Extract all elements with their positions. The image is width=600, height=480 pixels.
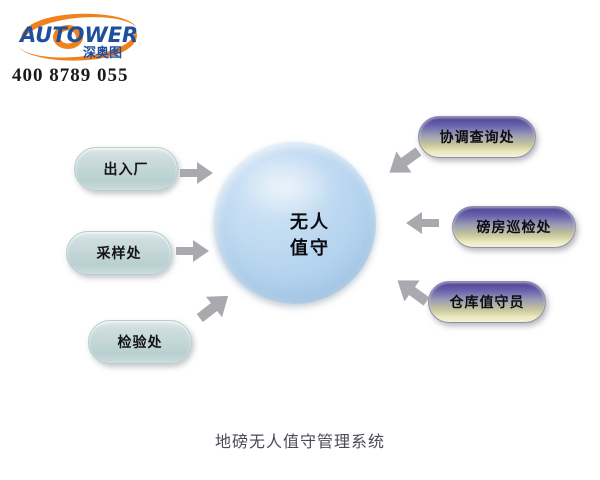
node-jianyanchu[interactable]: 检验处 bbox=[88, 320, 192, 364]
autower-logo: AUTOWER 深奥图 bbox=[10, 12, 150, 62]
phone-number: 400 8789 055 bbox=[12, 65, 129, 87]
node-bangfangxunjianchu[interactable]: 磅房巡检处 bbox=[452, 206, 576, 248]
arrow-up-left-icon bbox=[392, 272, 432, 310]
node-caiyangchu[interactable]: 采样处 bbox=[66, 231, 172, 275]
node-label: 采样处 bbox=[97, 243, 142, 263]
node-label: 磅房巡检处 bbox=[477, 217, 552, 237]
arrow-right-icon bbox=[180, 160, 214, 186]
hub-label: 无人 值守 bbox=[290, 210, 330, 262]
node-churuchang[interactable]: 出入厂 bbox=[74, 147, 178, 191]
node-cangkuzhishouyuan[interactable]: 仓库值守员 bbox=[428, 281, 546, 323]
node-label: 出入厂 bbox=[104, 159, 149, 179]
central-hub: 无人 值守 bbox=[214, 142, 376, 304]
arrow-right-icon bbox=[176, 238, 210, 264]
node-label: 检验处 bbox=[118, 332, 163, 352]
node-label: 协调查询处 bbox=[440, 127, 515, 147]
arrow-up-right-icon bbox=[194, 288, 234, 326]
node-xietiaochaxunchu[interactable]: 协调查询处 bbox=[418, 116, 536, 158]
hub-label-line2: 值守 bbox=[290, 236, 330, 262]
arrow-down-left-icon bbox=[384, 143, 424, 181]
diagram-page: AUTOWER 深奥图 400 8789 055 无人 值守 出入厂 采样处 检… bbox=[0, 0, 600, 480]
diagram-caption: 地磅无人值守管理系统 bbox=[0, 428, 600, 452]
logo-wordmark: AUTOWER bbox=[18, 23, 138, 47]
logo-subtext: 深奥图 bbox=[83, 45, 122, 61]
hub-label-line1: 无人 bbox=[290, 210, 330, 236]
arrow-left-icon bbox=[406, 210, 440, 236]
logo-svg: AUTOWER 深奥图 bbox=[10, 12, 150, 62]
node-label: 仓库值守员 bbox=[450, 292, 525, 312]
